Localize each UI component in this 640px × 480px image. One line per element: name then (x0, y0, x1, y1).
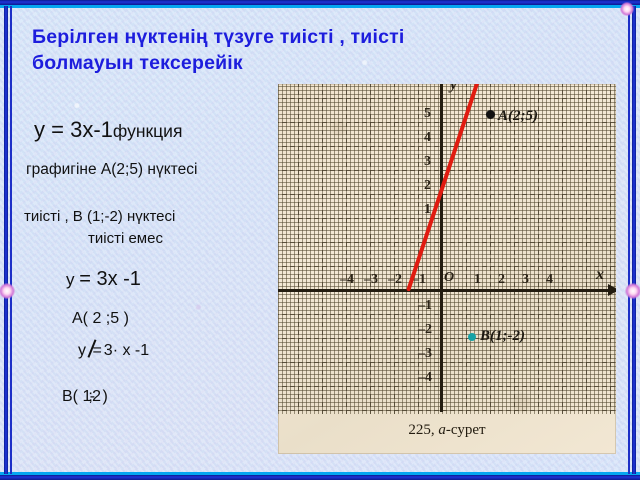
x-tick-label: 4 (546, 272, 553, 288)
equation-check-b: у =3· х -1 (78, 342, 149, 360)
point-b-open-paren: В( (62, 388, 78, 405)
gridline-v (514, 84, 515, 414)
gridline-v (538, 84, 539, 414)
frame-top-accent (0, 5, 640, 8)
figure-caption-letter: а (438, 422, 446, 438)
gridline-h (278, 98, 616, 99)
grid-minor (278, 84, 616, 414)
x-tick-label-neg: –3 (364, 272, 378, 288)
equation-check-a-lhs: у (66, 270, 75, 289)
y-tick-label-neg: –1 (418, 298, 432, 314)
y-tick-label: 3 (424, 154, 431, 170)
frame-left-border (4, 6, 8, 474)
equation-check-a: у = 3х -1 (66, 268, 141, 291)
y-axis-label: y (450, 84, 457, 94)
point-a-marker (486, 110, 495, 119)
graph-figure: y x 5 4 3 2 1 –1 –2 –3 –4 –4 –3 –2 –1 O … (278, 84, 616, 454)
y-tick-label-neg: –3 (418, 346, 432, 362)
point-a-coordinates: А( 2 ;5 ) (72, 310, 129, 328)
x-axis-arrow-icon (608, 284, 616, 296)
gridline-v (322, 84, 323, 414)
point-b-values: 1;-2 (82, 388, 98, 405)
gridline-v (346, 84, 347, 414)
x-tick-label: 3 (522, 272, 529, 288)
y-tick-label: 4 (424, 130, 431, 146)
slide-title: Берілген нүктенің түзуге тиісті , тиісті… (32, 24, 432, 76)
sparkle-left-icon (0, 283, 15, 299)
sparkle-top-right-icon (620, 2, 634, 16)
not-equal-icon: = (90, 342, 103, 360)
y-tick-label: 5 (424, 106, 431, 122)
gridline-h (278, 338, 616, 339)
gridline-h (278, 194, 616, 195)
point-a-label: A(2;5) (498, 108, 538, 125)
gridline-h (278, 218, 616, 219)
equation-check-a-rhs: = 3х -1 (79, 268, 141, 290)
gridline-h (278, 314, 616, 315)
origin-label: O (444, 270, 454, 286)
gridline-h (278, 266, 616, 267)
y-tick-label-neg: –2 (418, 322, 432, 338)
not-belongs-sentence: тиісті емес (88, 230, 163, 247)
equation-check-b-lhs: у (78, 342, 86, 359)
function-prefix: у = (34, 117, 70, 142)
gridline-v (370, 84, 371, 414)
sparkle-right-icon (625, 283, 640, 299)
y-tick-label: 2 (424, 178, 431, 194)
graph-point-sentence: графигіне А(2;5) нүктесі (26, 160, 276, 180)
frame-left-inner-border (10, 6, 12, 474)
x-axis (278, 289, 616, 292)
figure-caption: 225, а-сурет (278, 422, 616, 439)
figure-caption-number: 225, (408, 422, 434, 438)
function-expression: 3х-1 (70, 117, 113, 142)
frame-bottom-accent (0, 472, 640, 475)
x-axis-label: x (596, 266, 604, 284)
x-tick-label: 1 (474, 272, 481, 288)
slide-canvas: Берілген нүктенің түзуге тиісті , тиісті… (0, 0, 640, 480)
belongs-sentence: тиісті , В (1;-2) нүктесі (24, 208, 175, 225)
gridline-h (278, 122, 616, 123)
gridline-h (278, 146, 616, 147)
point-b-coordinates: В( 1;-2 ) (62, 388, 108, 406)
x-tick-label: 2 (498, 272, 505, 288)
y-axis (440, 84, 443, 412)
gridline-v (466, 84, 467, 414)
gridline-v (610, 84, 611, 414)
x-tick-label-neg: –2 (388, 272, 402, 288)
figure-caption-word: -сурет (446, 422, 486, 438)
gridline-h (278, 242, 616, 243)
y-tick-label-neg: –4 (418, 370, 432, 386)
gridline-v (394, 84, 395, 414)
gridline-h (278, 386, 616, 387)
equation-check-b-rhs: 3· х -1 (104, 342, 149, 359)
coordinate-plane: y x 5 4 3 2 1 –1 –2 –3 –4 –4 –3 –2 –1 O … (278, 84, 616, 414)
function-statement: у = 3х-1функция (34, 117, 182, 143)
point-b-close-paren: ) (102, 388, 107, 405)
gridline-v (586, 84, 587, 414)
x-tick-label-neg: –4 (340, 272, 354, 288)
point-b-label: B(1;-2) (480, 328, 525, 345)
gridline-v (562, 84, 563, 414)
gridline-v (490, 84, 491, 414)
gridline-h (278, 410, 616, 411)
gridline-h (278, 362, 616, 363)
frame-right-border (632, 6, 636, 474)
frame-bottom-border (0, 475, 640, 480)
point-b-marker (468, 333, 476, 341)
gridline-v (298, 84, 299, 414)
function-suffix: функция (113, 121, 183, 141)
frame-right-inner-border (628, 6, 630, 474)
